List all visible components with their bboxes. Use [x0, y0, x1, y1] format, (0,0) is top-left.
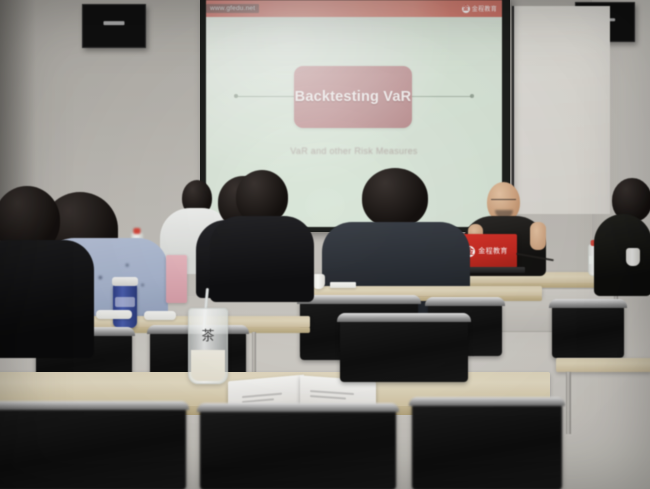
slide-url-text: www.gfedu.net [206, 4, 259, 13]
paper-cup [626, 248, 640, 266]
chair [340, 316, 468, 382]
slide-title: Backtesting VaR [295, 89, 412, 105]
laptop-brand-text: 金程教育 [478, 246, 508, 256]
slide-rule-dot-right [470, 94, 474, 98]
brand-name-text: 金程教育 [472, 4, 497, 13]
cup-logo-icon: 茶 [200, 328, 216, 344]
chair [412, 400, 562, 489]
book-text-line [242, 398, 274, 402]
slide-rule-left [236, 96, 296, 97]
whiteboard [512, 6, 610, 214]
slide-subtitle: VaR and other Risk Measures [206, 146, 502, 156]
student-head [362, 168, 428, 228]
slide-rule-right [410, 96, 472, 97]
student-torso [594, 214, 650, 296]
drink-liquid [191, 350, 225, 381]
desk-leg [566, 372, 571, 434]
classroom-photo: www.gfedu.net 金 金程教育 Backtesting VaR VaR… [0, 0, 650, 489]
student-torso [210, 216, 314, 302]
book-text-line [310, 395, 346, 399]
book-text-line [242, 393, 282, 398]
bubble-tea-cup: 茶 [188, 308, 228, 384]
instructor-hand-right [530, 222, 546, 250]
slide-brand-logo: 金 金程教育 [462, 4, 502, 13]
book-text-line [310, 390, 354, 395]
paper-sheet [96, 310, 132, 319]
chair [200, 406, 396, 489]
speaker-grille-icon [103, 22, 124, 26]
paper-sheet [144, 311, 176, 320]
tumbler-lid [112, 277, 138, 286]
chair [0, 404, 186, 489]
brand-mark-icon: 金 [462, 5, 470, 13]
wall-speaker-left [82, 4, 146, 48]
pink-folder [166, 255, 187, 303]
chair [552, 302, 624, 358]
bottle-cap [133, 228, 140, 234]
student-torso [0, 240, 94, 358]
blue-tumbler [113, 284, 137, 328]
slide-title-box: Backtesting VaR [294, 66, 412, 128]
slide-topbar: www.gfedu.net 金 金程教育 [206, 0, 502, 17]
paper-sheet [330, 282, 356, 288]
glasses-icon [491, 199, 516, 204]
desk-right-foreground [556, 358, 650, 372]
tumbler-band [115, 297, 134, 307]
